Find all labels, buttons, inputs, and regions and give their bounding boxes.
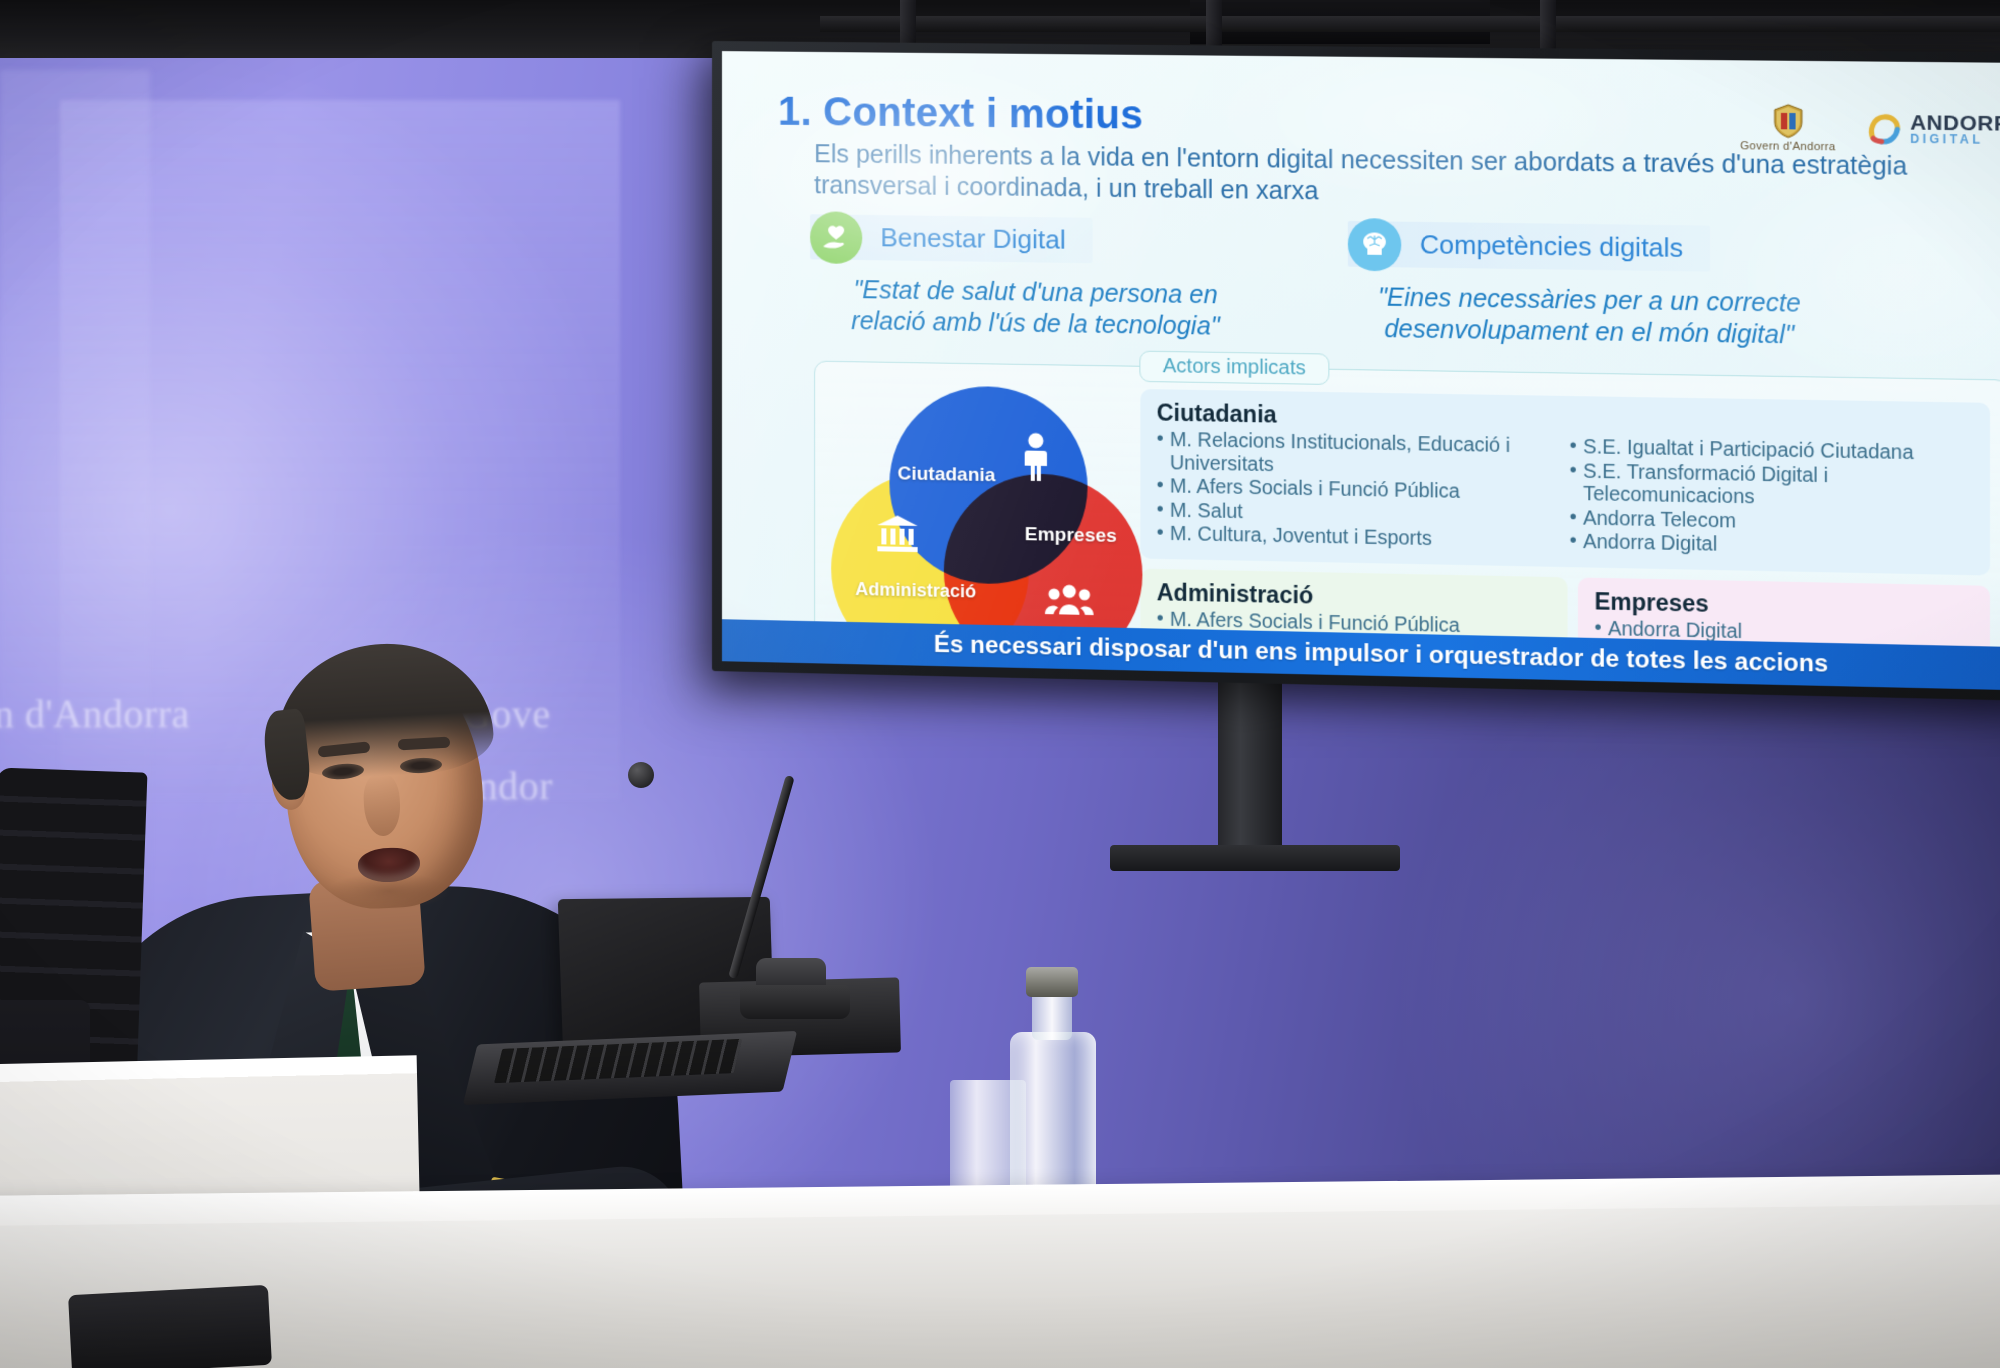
person-icon: [1019, 431, 1053, 487]
actor-card-ciutadania-col-left: Ciutadania M. Relacions Institucionals, …: [1157, 399, 1555, 554]
speaker-chin-shadow: [328, 872, 450, 910]
actor-list-ciutadania-left: M. Relacions Institucionals, Educació i …: [1157, 429, 1555, 554]
andorra-digital-mark-icon: [1867, 112, 1903, 147]
tv-stand-base: [1110, 845, 1400, 871]
govern-andorra-label: Govern d'Andorra: [1740, 140, 1835, 153]
bank-icon: [875, 513, 919, 559]
concept-competencies-pill: Competències digitals: [1348, 221, 1710, 272]
desk-front-panel: [0, 1204, 2000, 1368]
heart-in-hand-icon: [810, 211, 862, 264]
microphone-stem: [636, 768, 776, 978]
actor-card-ciutadania: Ciutadania M. Relacions Institucionals, …: [1140, 389, 1990, 576]
actors-tab-label: Actors implicats: [1139, 351, 1329, 385]
concept-benestar-label: Benestar Digital: [880, 222, 1065, 255]
actor-card-ciutadania-title: Ciutadania: [1157, 399, 1555, 433]
water-bottle-cap: [1026, 967, 1078, 997]
list-item: M. Relacions Institucionals, Educació i …: [1157, 429, 1555, 482]
brain-icon: [1348, 217, 1401, 270]
list-item: S.E. Transformació Digital i Telecomunic…: [1570, 460, 1976, 514]
concept-benestar-digital: Benestar Digital: [810, 214, 1092, 263]
venn-label-administracio: Administració: [855, 579, 976, 603]
screen-surface: Govern d'Andorra ANDORRA DIGITAL: [722, 51, 2000, 691]
andorra-digital-wordmark: ANDORRA DIGITAL: [1910, 114, 2000, 147]
slide: Govern d'Andorra ANDORRA DIGITAL: [722, 51, 2000, 691]
concept-competencies-label: Competències digitals: [1420, 229, 1683, 263]
govern-andorra-logo: Govern d'Andorra: [1740, 103, 1835, 153]
actor-row-ciutadania: Ciutadania M. Relacions Institucionals, …: [1140, 389, 1990, 576]
ceiling-truss-horizontal: [820, 16, 2000, 32]
desk-foreground-object: [68, 1285, 272, 1368]
press-conference-scene: rn d'Andorra dorra Gove d'Andor: [0, 0, 2000, 1368]
microphone-base: [740, 985, 850, 1019]
venn-label-ciutadania: Ciutadania: [897, 463, 995, 487]
slide-logos: Govern d'Andorra ANDORRA DIGITAL: [1740, 103, 2000, 155]
microphone-head: [628, 762, 654, 788]
govern-crest-icon: [1771, 104, 1804, 139]
actor-card-ciutadania-col-right: Ciutadania S.E. Igualtat i Participació …: [1570, 406, 1976, 563]
concept-competencies-digitals: Competències digitals: [1348, 221, 1710, 272]
tv-stand-pole: [1218, 668, 1282, 858]
quote-benestar: "Estat de salut d'una persona en relació…: [818, 274, 1253, 343]
actor-list-ciutadania-right: S.E. Igualtat i Participació Ciutadana S…: [1570, 436, 1976, 562]
presentation-screen: Govern d'Andorra ANDORRA DIGITAL: [712, 41, 2000, 701]
group-icon: [1045, 583, 1094, 621]
andorra-digital-line2: DIGITAL: [1910, 134, 2000, 147]
concept-headers: Benestar Digital: [778, 214, 2000, 283]
andorra-digital-logo: ANDORRA DIGITAL: [1867, 112, 2000, 149]
venn-label-empreses: Empreses: [1025, 524, 1117, 548]
quote-competencies: "Eines necessàries per a un correcte des…: [1346, 282, 1834, 353]
